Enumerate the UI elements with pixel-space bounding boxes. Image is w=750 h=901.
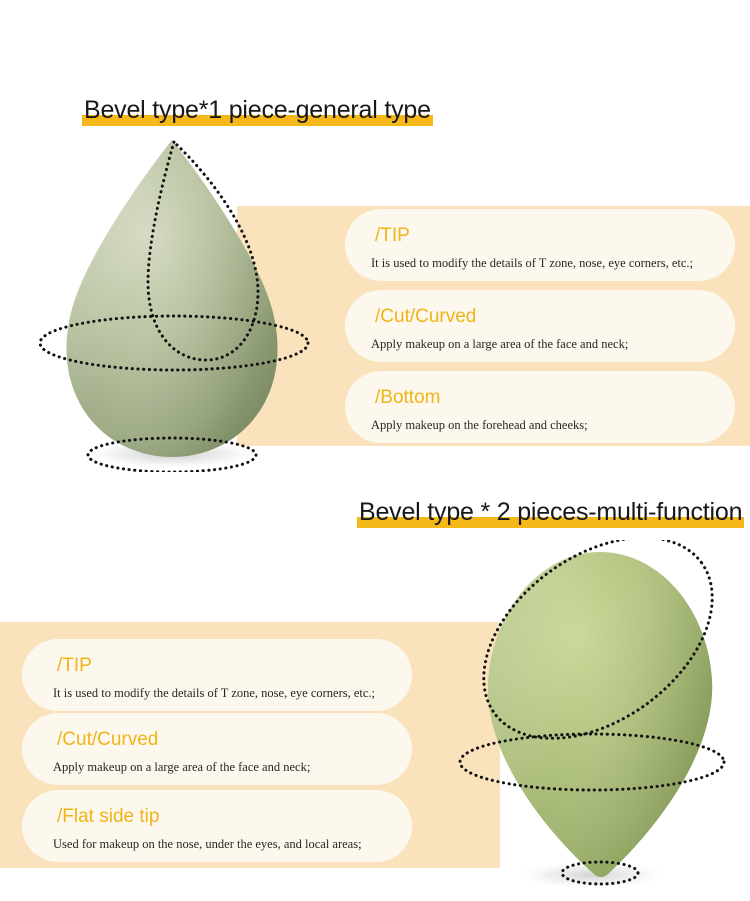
section-title-one-text: Bevel type*1 piece-general type [82, 98, 433, 123]
card-heading: /Cut/Curved [57, 730, 158, 749]
card-heading: /TIP [57, 656, 92, 675]
info-card-cut-curved-bottom[interactable]: /Cut/Curved Apply makeup on a large area… [22, 713, 412, 785]
card-body-text: Apply makeup on a large area of the face… [53, 760, 310, 775]
beveled-sponge-point-down [432, 540, 750, 901]
teardrop-sponge-point-up [22, 132, 332, 472]
section-title-two-text: Bevel type * 2 pieces-multi-function [357, 500, 744, 525]
info-card-flat-side-tip[interactable]: /Flat side tip Used for makeup on the no… [22, 790, 412, 862]
card-body-text: It is used to modify the details of T zo… [371, 256, 693, 271]
card-heading: /Cut/Curved [375, 307, 476, 326]
info-card-tip-top[interactable]: /TIP It is used to modify the details of… [345, 209, 735, 281]
card-heading: /Bottom [375, 388, 440, 407]
card-heading: /TIP [375, 226, 410, 245]
section-title-two: Bevel type * 2 pieces-multi-function [357, 500, 744, 525]
info-card-cut-curved-top[interactable]: /Cut/Curved Apply makeup on a large area… [345, 290, 735, 362]
info-card-tip-bottom[interactable]: /TIP It is used to modify the details of… [22, 639, 412, 711]
card-body-text: Apply makeup on the forehead and cheeks; [371, 418, 588, 433]
section-title-one: Bevel type*1 piece-general type [82, 98, 433, 123]
info-card-bottom-top[interactable]: /Bottom Apply makeup on the forehead and… [345, 371, 735, 443]
sponge-shading [488, 552, 712, 877]
card-body-text: It is used to modify the details of T zo… [53, 686, 375, 701]
card-body-text: Apply makeup on a large area of the face… [371, 337, 628, 352]
card-body-text: Used for makeup on the nose, under the e… [53, 837, 362, 852]
card-heading: /Flat side tip [57, 807, 159, 826]
infographic-canvas: Bevel type*1 piece-general type [0, 0, 750, 901]
sponge-shading [66, 140, 277, 457]
